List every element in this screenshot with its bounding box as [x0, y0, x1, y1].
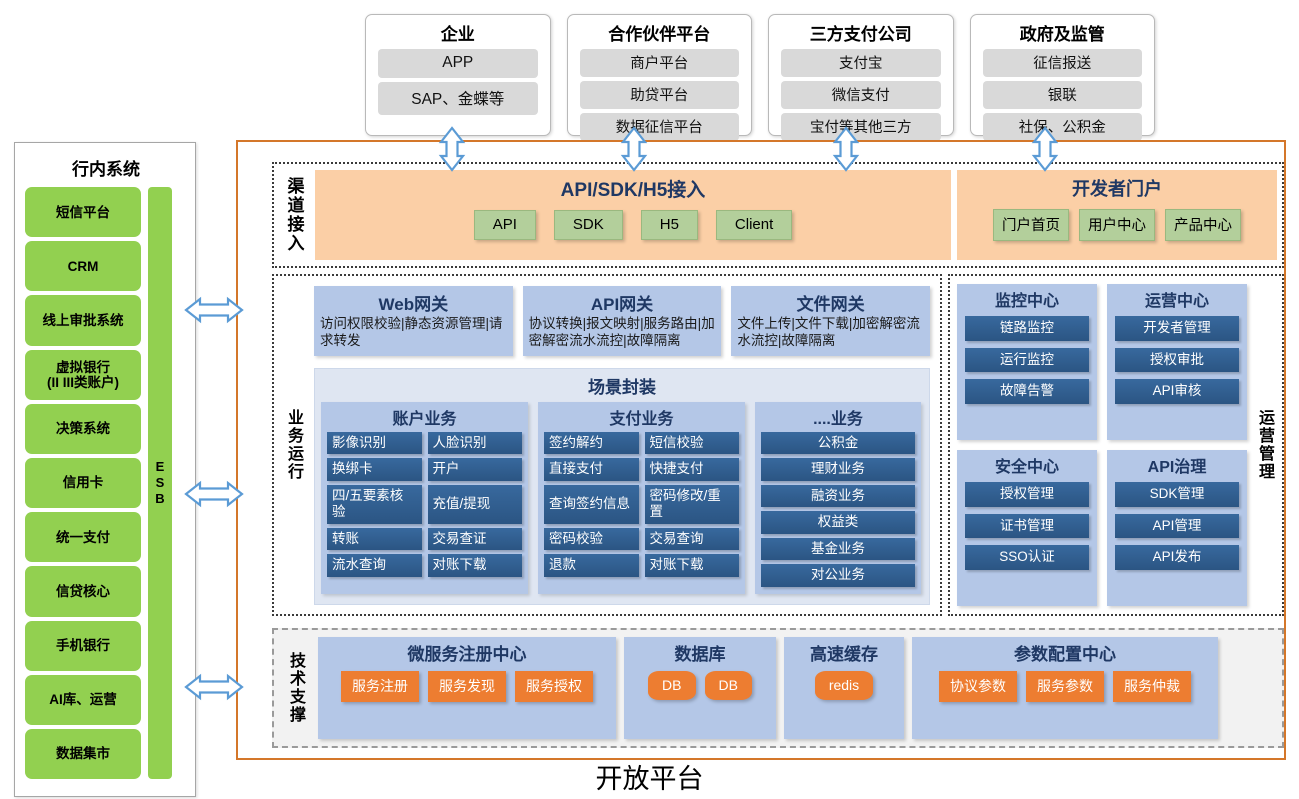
scene-chip-column: 短信校验快捷支付密码修改/重置交易查询对账下载: [645, 432, 740, 577]
tech-support-chip[interactable]: DB: [648, 671, 695, 700]
scene-service-chip[interactable]: 换绑卡: [327, 458, 422, 481]
operations-item-chip[interactable]: 授权审批: [1115, 348, 1239, 373]
bank-system-item[interactable]: 线上审批系统: [25, 295, 141, 345]
gateway-title: Web网关: [320, 290, 507, 315]
scene-group-title: 支付业务: [544, 405, 739, 429]
tech-support-chip[interactable]: 服务注册: [341, 671, 419, 702]
scene-chip-column: 人脸识别开户充值/提现交易查证对账下载: [428, 432, 523, 577]
bank-system-list: 短信平台CRM线上审批系统虚拟银行(II III类账户)决策系统信用卡统一支付信…: [25, 187, 141, 779]
bank-system-item[interactable]: 决策系统: [25, 404, 141, 454]
external-party-title: 合作伙伴平台: [608, 20, 710, 45]
scene-encapsulation-card: 场景封装 账户业务影像识别换绑卡四/五要素核验转账流水查询人脸识别开户充值/提现…: [314, 368, 930, 605]
operations-item-chip[interactable]: API管理: [1115, 514, 1239, 539]
external-party-box: 合作伙伴平台商户平台助贷平台数据征信平台: [567, 14, 753, 136]
api-access-chip[interactable]: Client: [716, 210, 792, 240]
scene-group-title: 账户业务: [327, 405, 522, 429]
bank-system-item[interactable]: 统一支付: [25, 512, 141, 562]
scene-service-chip[interactable]: 短信校验: [645, 432, 740, 455]
scene-group: 支付业务签约解约直接支付查询签约信息密码校验退款短信校验快捷支付密码修改/重置交…: [538, 402, 745, 594]
tech-support-card: 高速缓存redis: [784, 637, 904, 739]
scene-chip-columns: 影像识别换绑卡四/五要素核验转账流水查询人脸识别开户充值/提现交易查证对账下载: [327, 432, 522, 577]
external-party-item[interactable]: 征信报送: [983, 49, 1143, 77]
api-access-chips: APISDKH5Client: [474, 210, 793, 240]
developer-portal-chip[interactable]: 产品中心: [1165, 209, 1241, 241]
bank-system-item[interactable]: 手机银行: [25, 621, 141, 671]
scene-service-chip[interactable]: 四/五要素核验: [327, 485, 422, 524]
external-party-item[interactable]: 社保、公积金: [983, 113, 1143, 141]
scene-chip-column: 影像识别换绑卡四/五要素核验转账流水查询: [327, 432, 422, 577]
bank-internal-systems-panel: 行内系统 短信平台CRM线上审批系统虚拟银行(II III类账户)决策系统信用卡…: [14, 142, 196, 797]
external-party-title: 三方支付公司: [810, 20, 912, 45]
external-party-title: 企业: [441, 20, 475, 45]
operations-card-items: 授权管理证书管理SSO认证: [965, 482, 1089, 598]
scene-service-chip[interactable]: 退款: [544, 554, 639, 577]
esb-letter: B: [155, 491, 164, 507]
esb-letter: S: [156, 475, 165, 491]
bank-internal-systems-body: 短信平台CRM线上审批系统虚拟银行(II III类账户)决策系统信用卡统一支付信…: [25, 187, 187, 779]
scene-chip-columns: 公积金理财业务融资业务权益类基金业务对公业务: [761, 432, 915, 587]
external-party-box: 企业APPSAP、金蝶等: [365, 14, 551, 136]
scene-chip-column: 公积金理财业务融资业务权益类基金业务对公业务: [761, 432, 915, 587]
scene-service-chip[interactable]: 密码校验: [544, 528, 639, 551]
gateway-card[interactable]: Web网关访问权限校验|静态资源管理|请求转发: [314, 286, 513, 356]
scene-service-chip[interactable]: 对账下载: [428, 554, 523, 577]
external-party-item[interactable]: 商户平台: [580, 49, 740, 77]
operations-card-items: 开发者管理授权审批API审核: [1115, 316, 1239, 432]
technical-support-label: 技术支撑: [280, 637, 310, 739]
external-party-item[interactable]: 助贷平台: [580, 81, 740, 109]
tech-support-chip[interactable]: redis: [815, 671, 873, 700]
tech-support-card: 微服务注册中心服务注册服务发现服务授权: [318, 637, 616, 739]
tech-support-chip[interactable]: 服务参数: [1026, 671, 1104, 702]
operations-card: 运营中心开发者管理授权审批API审核: [1107, 284, 1247, 440]
operations-item-chip[interactable]: SDK管理: [1115, 482, 1239, 507]
scene-service-chip[interactable]: 转账: [327, 528, 422, 551]
gateway-row: Web网关访问权限校验|静态资源管理|请求转发API网关协议转换|报文映射|服务…: [308, 281, 936, 356]
operations-management-label: 运营管理: [1250, 281, 1278, 609]
operations-card: 安全中心授权管理证书管理SSO认证: [957, 450, 1097, 606]
tech-support-card-title: 微服务注册中心: [408, 640, 527, 665]
bank-system-item[interactable]: 短信平台: [25, 187, 141, 237]
bank-system-item[interactable]: 信用卡: [25, 458, 141, 508]
tech-support-card-title: 参数配置中心: [1014, 640, 1116, 665]
scene-service-chip[interactable]: 交易查证: [428, 528, 523, 551]
scene-service-chip[interactable]: 交易查询: [645, 528, 740, 551]
tech-support-card-title: 数据库: [675, 640, 726, 665]
scene-service-chip[interactable]: 直接支付: [544, 458, 639, 481]
tech-support-chips: 协议参数服务参数服务仲裁: [939, 671, 1191, 702]
scene-service-chip[interactable]: 对公业务: [761, 564, 915, 587]
gateway-description: 访问权限校验|静态资源管理|请求转发: [320, 316, 507, 350]
external-party-item[interactable]: 支付宝: [781, 49, 941, 77]
operations-card-items: 链路监控运行监控故障告警: [965, 316, 1089, 432]
operations-item-chip[interactable]: API审核: [1115, 379, 1239, 404]
operations-card-grid: 监控中心链路监控运行监控故障告警运营中心开发者管理授权审批API审核安全中心授权…: [954, 281, 1250, 609]
operations-item-chip[interactable]: 故障告警: [965, 379, 1089, 404]
external-party-item[interactable]: 数据征信平台: [580, 113, 740, 141]
scene-service-chip[interactable]: 充值/提现: [428, 485, 523, 524]
tech-support-card: 数据库DBDB: [624, 637, 776, 739]
scene-service-chip[interactable]: 基金业务: [761, 538, 915, 561]
scene-service-chip[interactable]: 权益类: [761, 511, 915, 534]
external-party-item[interactable]: 微信支付: [781, 81, 941, 109]
technical-support-band: 技术支撑 微服务注册中心服务注册服务发现服务授权数据库DBDB高速缓存redis…: [272, 628, 1284, 748]
scene-service-chip[interactable]: 对账下载: [645, 554, 740, 577]
tech-support-chip[interactable]: 服务授权: [515, 671, 593, 702]
bank-system-item[interactable]: CRM: [25, 241, 141, 291]
scene-service-chip[interactable]: 影像识别: [327, 432, 422, 455]
scene-service-chip[interactable]: 融资业务: [761, 485, 915, 508]
operations-item-chip[interactable]: SSO认证: [965, 545, 1089, 570]
scene-service-chip[interactable]: 人脸识别: [428, 432, 523, 455]
scene-group-row: 账户业务影像识别换绑卡四/五要素核验转账流水查询人脸识别开户充值/提现交易查证对…: [321, 402, 923, 594]
developer-portal-chip[interactable]: 用户中心: [1079, 209, 1155, 241]
bank-internal-systems-title: 行内系统: [25, 155, 187, 180]
api-access-title: API/SDK/H5接入: [561, 175, 706, 202]
tech-support-chips: 服务注册服务发现服务授权: [341, 671, 593, 702]
scene-chip-column: 签约解约直接支付查询签约信息密码校验退款: [544, 432, 639, 577]
operations-card-title: 运营中心: [1115, 287, 1239, 311]
operations-item-chip[interactable]: 链路监控: [965, 316, 1089, 341]
scene-group: ....业务公积金理财业务融资业务权益类基金业务对公业务: [755, 402, 921, 594]
operations-item-chip[interactable]: 运行监控: [965, 348, 1089, 373]
external-party-item[interactable]: 银联: [983, 81, 1143, 109]
api-access-card: API/SDK/H5接入 APISDKH5Client: [315, 170, 951, 260]
esb-bar: ESB: [148, 187, 172, 779]
api-access-chip[interactable]: SDK: [554, 210, 623, 240]
scene-service-chip[interactable]: 流水查询: [327, 554, 422, 577]
scene-service-chip[interactable]: 快捷支付: [645, 458, 740, 481]
scene-group: 账户业务影像识别换绑卡四/五要素核验转账流水查询人脸识别开户充值/提现交易查证对…: [321, 402, 528, 594]
operations-item-chip[interactable]: API发布: [1115, 545, 1239, 570]
developer-portal-title: 开发者门户: [1072, 175, 1162, 201]
gateway-description: 文件上传|文件下载|加密解密流水流控|故障隔离: [737, 316, 924, 350]
operations-item-chip[interactable]: 开发者管理: [1115, 316, 1239, 341]
tech-support-card: 参数配置中心协议参数服务参数服务仲裁: [912, 637, 1218, 739]
gateway-title: 文件网关: [737, 290, 924, 315]
business-running-band: 业务运行 Web网关访问权限校验|静态资源管理|请求转发API网关协议转换|报文…: [272, 274, 942, 616]
gateway-description: 协议转换|报文映射|服务路由|加密解密流水流控|故障隔离: [529, 316, 716, 350]
operations-card-items: SDK管理API管理API发布: [1115, 482, 1239, 598]
tech-support-chip[interactable]: 服务仲裁: [1113, 671, 1191, 702]
operations-item-chip[interactable]: 授权管理: [965, 482, 1089, 507]
scene-group-title: ....业务: [761, 405, 915, 429]
channel-access-band: 渠道接入 API/SDK/H5接入 APISDKH5Client 开发者门户 门…: [272, 162, 1284, 268]
tech-support-card-title: 高速缓存: [810, 640, 878, 665]
page-title: 开放平台: [0, 757, 1299, 796]
business-running-content: Web网关访问权限校验|静态资源管理|请求转发API网关协议转换|报文映射|服务…: [308, 281, 936, 609]
tech-support-chip[interactable]: 协议参数: [939, 671, 1017, 702]
scene-service-chip[interactable]: 查询签约信息: [544, 485, 639, 524]
gateway-title: API网关: [529, 290, 716, 315]
external-party-box: 三方支付公司支付宝微信支付宝付等其他三方: [768, 14, 954, 136]
tech-support-chips: DBDB: [648, 671, 752, 700]
developer-portal-chip[interactable]: 门户首页: [993, 209, 1069, 241]
operations-card-title: API治理: [1115, 453, 1239, 477]
bank-system-item[interactable]: 虚拟银行(II III类账户): [25, 350, 141, 400]
tech-support-chip[interactable]: 服务发现: [428, 671, 506, 702]
gateway-card[interactable]: API网关协议转换|报文映射|服务路由|加密解密流水流控|故障隔离: [523, 286, 722, 356]
esb-letter: E: [156, 459, 165, 475]
api-access-chip[interactable]: H5: [641, 210, 698, 240]
scene-service-chip[interactable]: 密码修改/重置: [645, 485, 740, 524]
operations-card: 监控中心链路监控运行监控故障告警: [957, 284, 1097, 440]
operations-management-band: 监控中心链路监控运行监控故障告警运营中心开发者管理授权审批API审核安全中心授权…: [948, 274, 1284, 616]
api-access-chip[interactable]: API: [474, 210, 536, 240]
business-running-label: 业务运行: [278, 281, 308, 609]
scene-chip-columns: 签约解约直接支付查询签约信息密码校验退款短信校验快捷支付密码修改/重置交易查询对…: [544, 432, 739, 577]
scene-service-chip[interactable]: 开户: [428, 458, 523, 481]
operations-card: API治理SDK管理API管理API发布: [1107, 450, 1247, 606]
operations-item-chip[interactable]: 证书管理: [965, 514, 1089, 539]
scene-service-chip[interactable]: 理财业务: [761, 458, 915, 481]
external-party-box: 政府及监管征信报送银联社保、公积金: [970, 14, 1156, 136]
scene-service-chip[interactable]: 签约解约: [544, 432, 639, 455]
bank-system-item[interactable]: 信贷核心: [25, 566, 141, 616]
tech-support-chip[interactable]: DB: [705, 671, 752, 700]
operations-card-title: 安全中心: [965, 453, 1089, 477]
gateway-card[interactable]: 文件网关文件上传|文件下载|加密解密流水流控|故障隔离: [731, 286, 930, 356]
external-party-title: 政府及监管: [1020, 20, 1105, 45]
bank-system-item[interactable]: AI库、运营: [25, 675, 141, 725]
external-party-item[interactable]: 宝付等其他三方: [781, 113, 941, 141]
operations-card-title: 监控中心: [965, 287, 1089, 311]
channel-access-label: 渠道接入: [279, 170, 309, 260]
developer-portal-chips: 门户首页用户中心产品中心: [993, 209, 1241, 241]
tech-support-chips: redis: [815, 671, 873, 700]
developer-portal-card: 开发者门户 门户首页用户中心产品中心: [957, 170, 1277, 260]
scene-encapsulation-title: 场景封装: [321, 373, 923, 398]
external-party-item[interactable]: APP: [378, 49, 538, 78]
external-parties-row: 企业APPSAP、金蝶等合作伙伴平台商户平台助贷平台数据征信平台三方支付公司支付…: [365, 14, 1155, 136]
scene-service-chip[interactable]: 公积金: [761, 432, 915, 455]
external-party-item[interactable]: SAP、金蝶等: [378, 82, 538, 115]
